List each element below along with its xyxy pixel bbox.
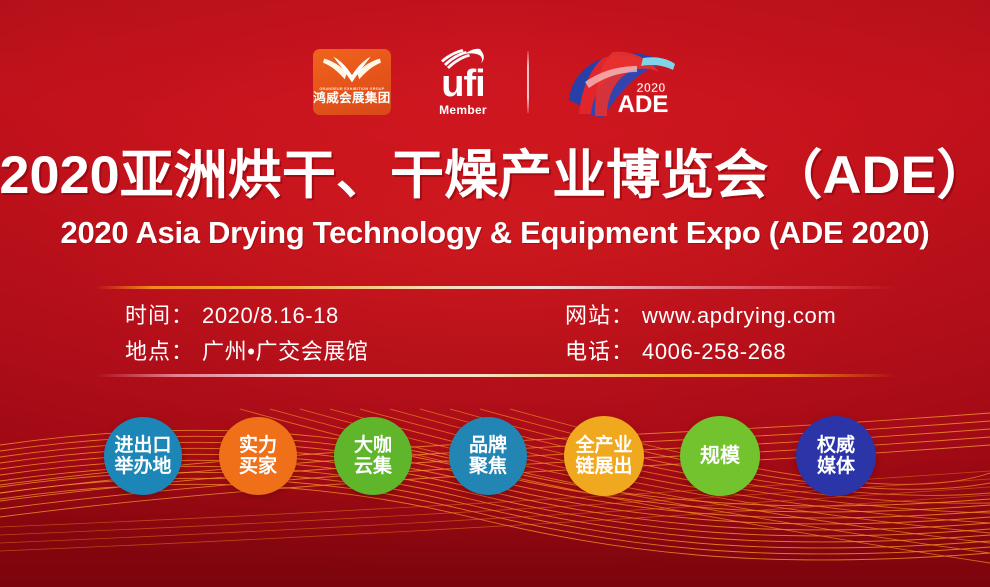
ufi-wordmark: ufi xyxy=(441,67,484,102)
info-phone: 电话： 4006-258-268 xyxy=(565,334,836,370)
feature-circle-7-line2: 媒体 xyxy=(817,456,855,477)
divider-bottom xyxy=(96,374,896,377)
info-phone-value[interactable]: 4006-258-268 xyxy=(642,334,786,370)
ufi-member-logo: ufi Member xyxy=(425,43,501,121)
feature-circle-4-line1: 品牌 xyxy=(469,435,507,456)
expo-poster: GRANDEUR EXHIBITION GROUP 鸿威会展集团 ufi Mem… xyxy=(0,0,990,587)
feature-circle-7-line1: 权威 xyxy=(817,435,855,456)
logo-row: GRANDEUR EXHIBITION GROUP 鸿威会展集团 ufi Mem… xyxy=(0,36,990,128)
ade-word-text: ADE xyxy=(618,91,669,118)
feature-circle-6-line1: 规模 xyxy=(700,445,740,467)
divider-top xyxy=(96,286,896,289)
info-website-value[interactable]: www.apdrying.com xyxy=(642,298,836,334)
ufi-member-label: Member xyxy=(439,103,487,117)
feature-circle-6: 规模 xyxy=(680,416,760,496)
feature-circle-4: 品牌 聚焦 xyxy=(449,417,527,495)
feature-circle-5-line1: 全产业 xyxy=(575,435,632,456)
info-phone-label: 电话： xyxy=(565,334,634,370)
ade-year-label: 2020 xyxy=(677,42,678,43)
ade-mark-icon: 2020 ADE xyxy=(555,42,677,122)
info-date-value: 2020/8.16-18 xyxy=(202,298,339,334)
info-date-label: 时间： xyxy=(125,298,194,334)
info-website: 网站： www.apdrying.com xyxy=(565,298,836,334)
feature-circle-5: 全产业 链展出 xyxy=(564,416,644,496)
feature-circle-3-line1: 大咖 xyxy=(354,435,392,456)
ade-2020-logo: 2020 ADE 2020 ADE xyxy=(555,42,677,122)
info-venue-value: 广州•广交会展馆 xyxy=(202,334,369,370)
feature-circle-4-line2: 聚焦 xyxy=(469,456,507,477)
feature-circle-1: 进出口 举办地 xyxy=(104,417,182,495)
logo-separator xyxy=(527,51,529,113)
grandeur-chinese-name: 鸿威会展集团 xyxy=(313,92,390,105)
poster-title-english: 2020 Asia Drying Technology & Equipment … xyxy=(0,215,990,251)
feature-circle-3: 大咖 云集 xyxy=(334,417,412,495)
event-info-left-column: 时间： 2020/8.16-18 地点： 广州•广交会展馆 xyxy=(125,298,369,370)
info-date: 时间： 2020/8.16-18 xyxy=(125,298,369,334)
feature-circle-5-line2: 链展出 xyxy=(575,456,632,477)
info-website-label: 网站： xyxy=(565,298,634,334)
info-venue: 地点： 广州•广交会展馆 xyxy=(125,334,369,370)
ade-word-label: ADE xyxy=(677,42,678,43)
feature-circle-2-line2: 买家 xyxy=(239,456,277,477)
feature-circle-7: 权威 媒体 xyxy=(796,416,876,496)
feature-circle-2-line1: 实力 xyxy=(239,435,277,456)
feature-circle-2: 实力 买家 xyxy=(219,417,297,495)
event-info-block: 时间： 2020/8.16-18 地点： 广州•广交会展馆 网站： www.ap… xyxy=(0,298,990,370)
feature-circle-1-line2: 举办地 xyxy=(114,456,171,477)
info-venue-label: 地点： xyxy=(125,334,194,370)
feature-circle-row: 进出口 举办地 实力 买家 大咖 云集 品牌 聚焦 全产业 链展出 规模 权威 … xyxy=(0,412,990,508)
grandeur-exhibition-group-logo: GRANDEUR EXHIBITION GROUP 鸿威会展集团 xyxy=(313,49,391,115)
grandeur-bird-w-icon xyxy=(321,55,383,85)
grandeur-english-name: GRANDEUR EXHIBITION GROUP xyxy=(319,87,384,91)
event-info-right-column: 网站： www.apdrying.com 电话： 4006-258-268 xyxy=(565,298,836,370)
feature-circle-1-line1: 进出口 xyxy=(114,435,171,456)
poster-title-chinese: 2020亚洲烘干、干燥产业博览会（ADE） xyxy=(0,148,990,204)
feature-circle-3-line2: 云集 xyxy=(354,456,392,477)
